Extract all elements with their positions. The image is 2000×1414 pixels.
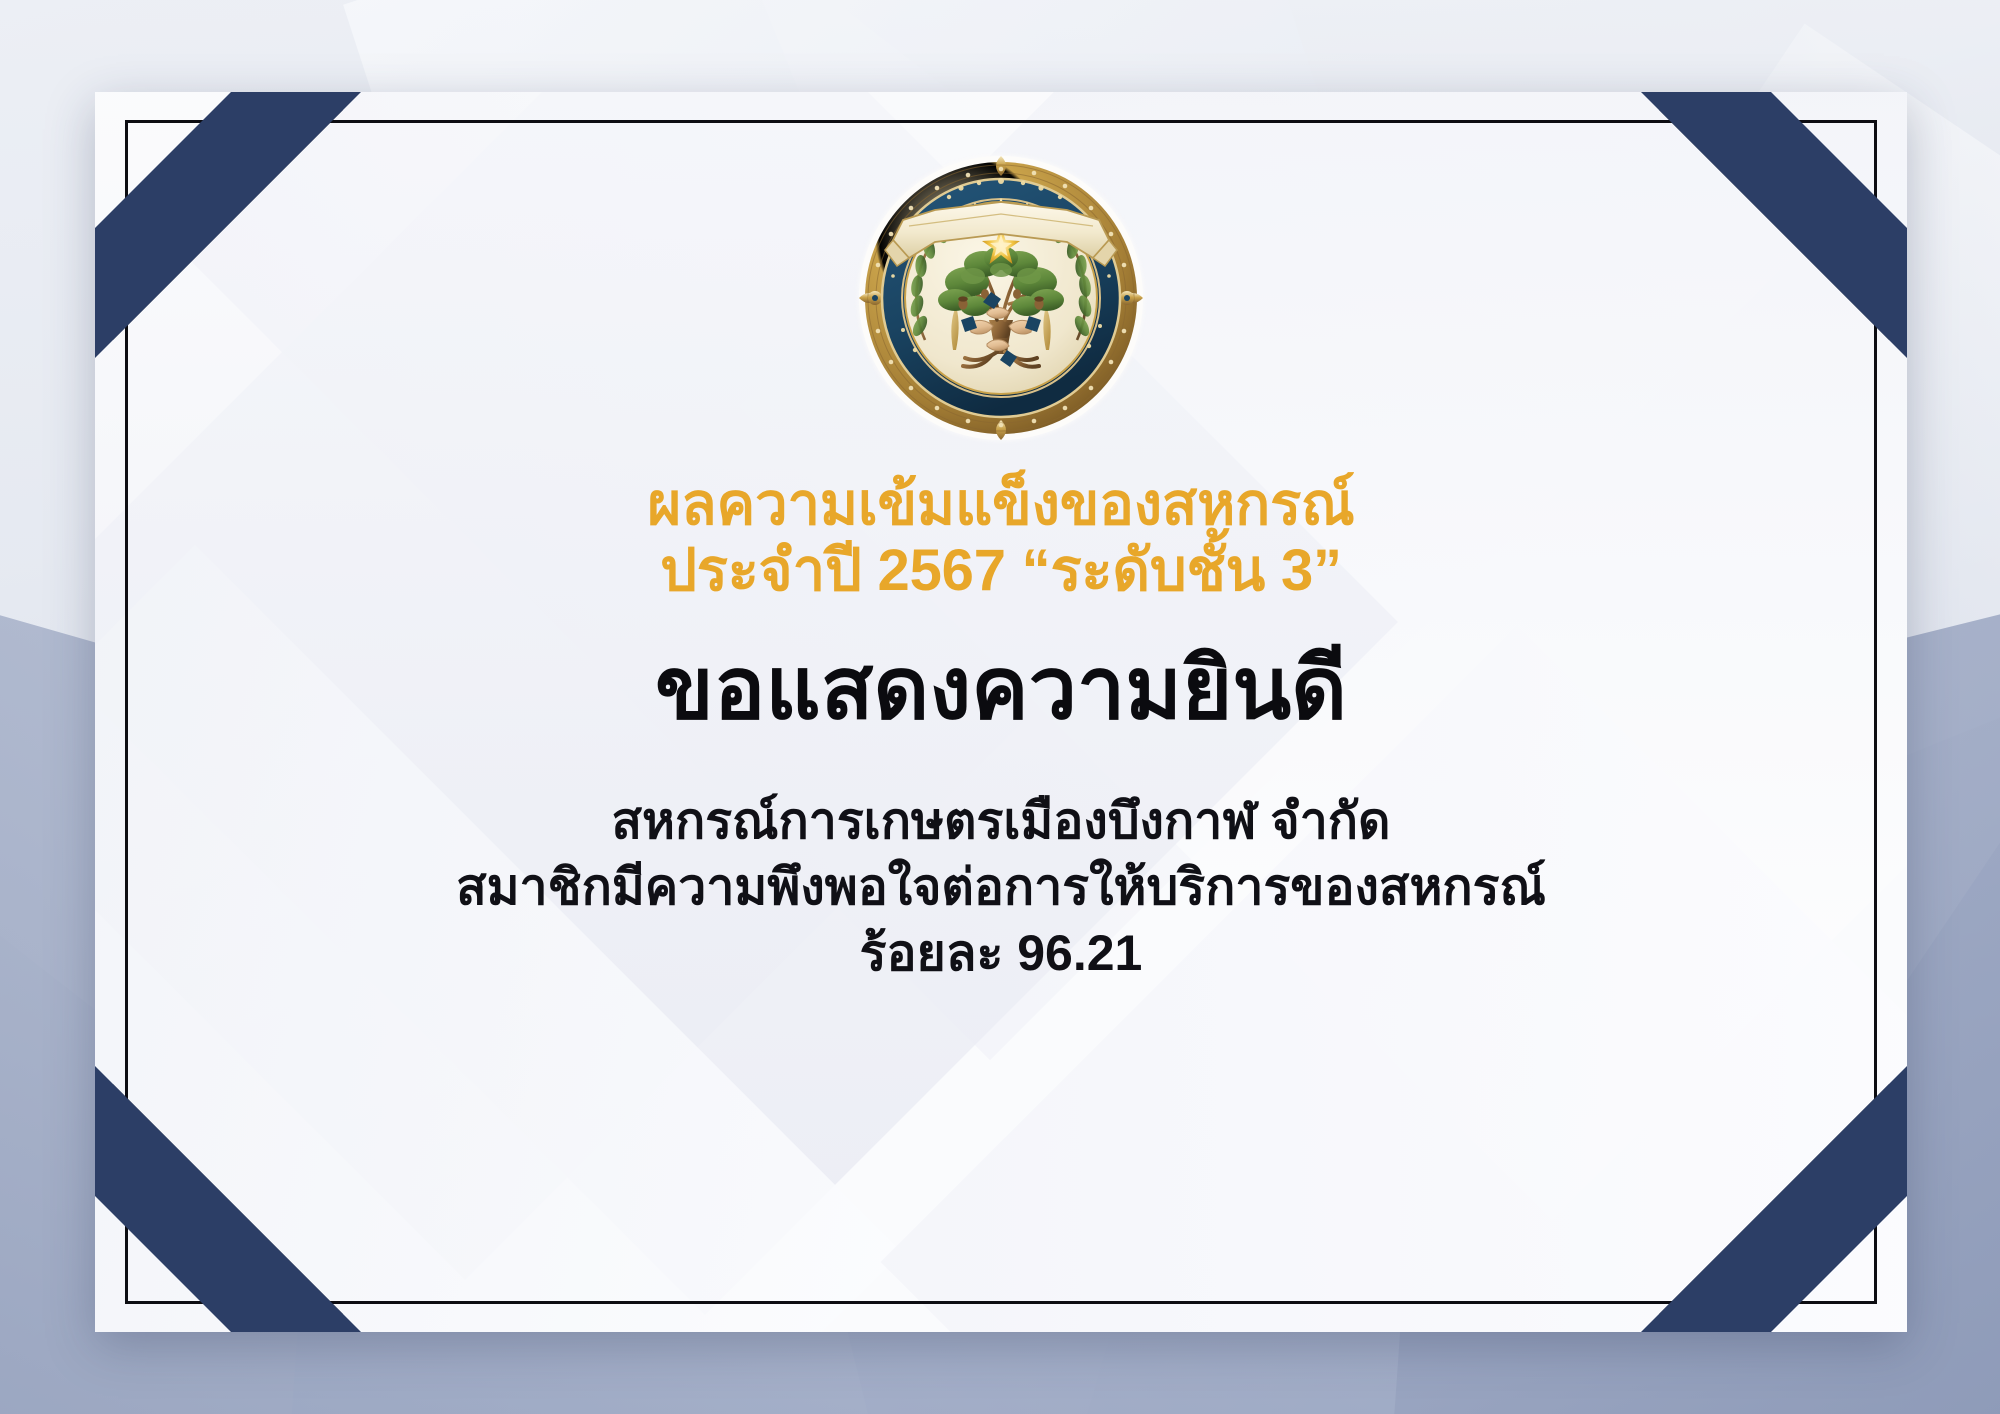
title-line-1: ผลความเข้มแข็งของสหกรณ์ xyxy=(647,472,1354,538)
title-line-2: ประจำปี 2567 “ระดับชั้น 3” xyxy=(647,538,1354,604)
certificate-content: ผลความเข้มแข็งของสหกรณ์ ประจำปี 2567 “ระ… xyxy=(95,92,1907,1332)
certificate-card: ผลความเข้มแข็งของสหกรณ์ ประจำปี 2567 “ระ… xyxy=(95,92,1907,1332)
certificate-title: ผลความเข้มแข็งของสหกรณ์ ประจำปี 2567 “ระ… xyxy=(647,472,1354,603)
congratulation-headline: ขอแสดงความยินดี xyxy=(655,643,1347,736)
body-line-percentage: ร้อยละ 96.21 xyxy=(456,920,1546,986)
body-line-cooperative-name: สหกรณ์การเกษตรเมืองบึงกาฬ จำกัด xyxy=(456,788,1546,854)
body-line-satisfaction-statement: สมาชิกมีความพึงพอใจต่อการให้บริการของสหก… xyxy=(456,854,1546,920)
certificate-page: ผลความเข้มแข็งของสหกรณ์ ประจำปี 2567 “ระ… xyxy=(0,0,2000,1414)
certificate-body: สหกรณ์การเกษตรเมืองบึงกาฬ จำกัด สมาชิกมี… xyxy=(456,788,1546,986)
cooperative-seal-emblem-icon xyxy=(853,150,1149,446)
